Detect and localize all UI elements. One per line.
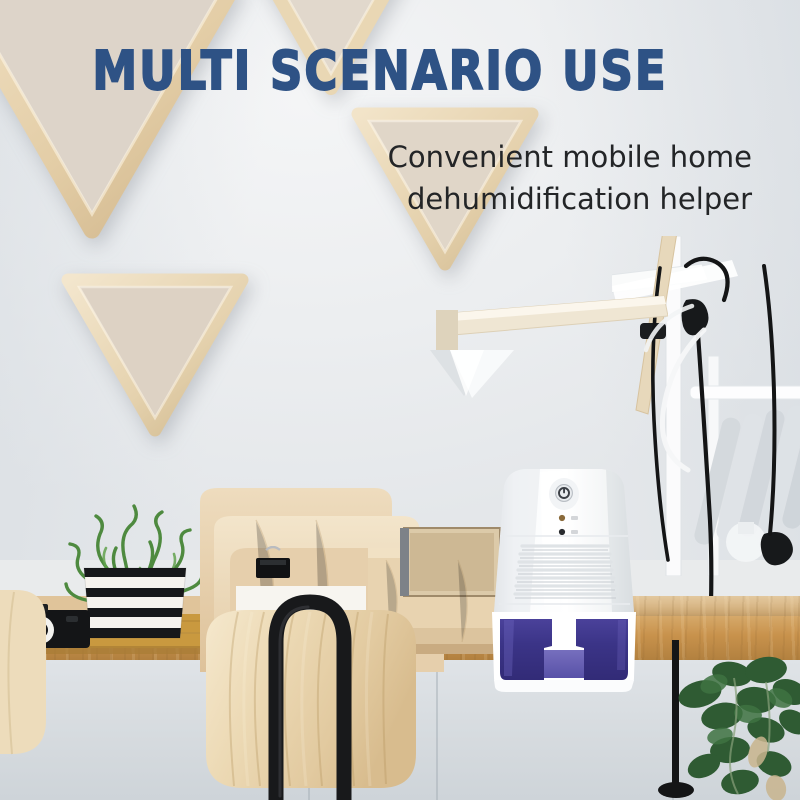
panel-seam-2 [436, 660, 438, 800]
dehumidifier-product[interactable] [478, 466, 650, 703]
hanging-cone-lamp [398, 292, 668, 407]
working-led [559, 529, 565, 535]
striped-planter [78, 566, 192, 642]
black-handle-bar [250, 588, 370, 800]
promo-banner: MULTI SCENARIO USE Convenient mobile hom… [0, 0, 800, 800]
binder-clip [252, 546, 294, 586]
subtitle-line-2: dehumidification helper [322, 178, 752, 220]
foreground-wood-board-left [0, 588, 56, 768]
subtitle-line-1: Convenient mobile home [322, 136, 752, 178]
trailing-pothos-plant [670, 648, 800, 800]
subtitle: Convenient mobile home dehumidification … [322, 136, 752, 221]
page-title: MULTI SCENARIO USE [0, 44, 760, 97]
full-tank-led [559, 515, 565, 521]
vent-slats [515, 546, 616, 594]
